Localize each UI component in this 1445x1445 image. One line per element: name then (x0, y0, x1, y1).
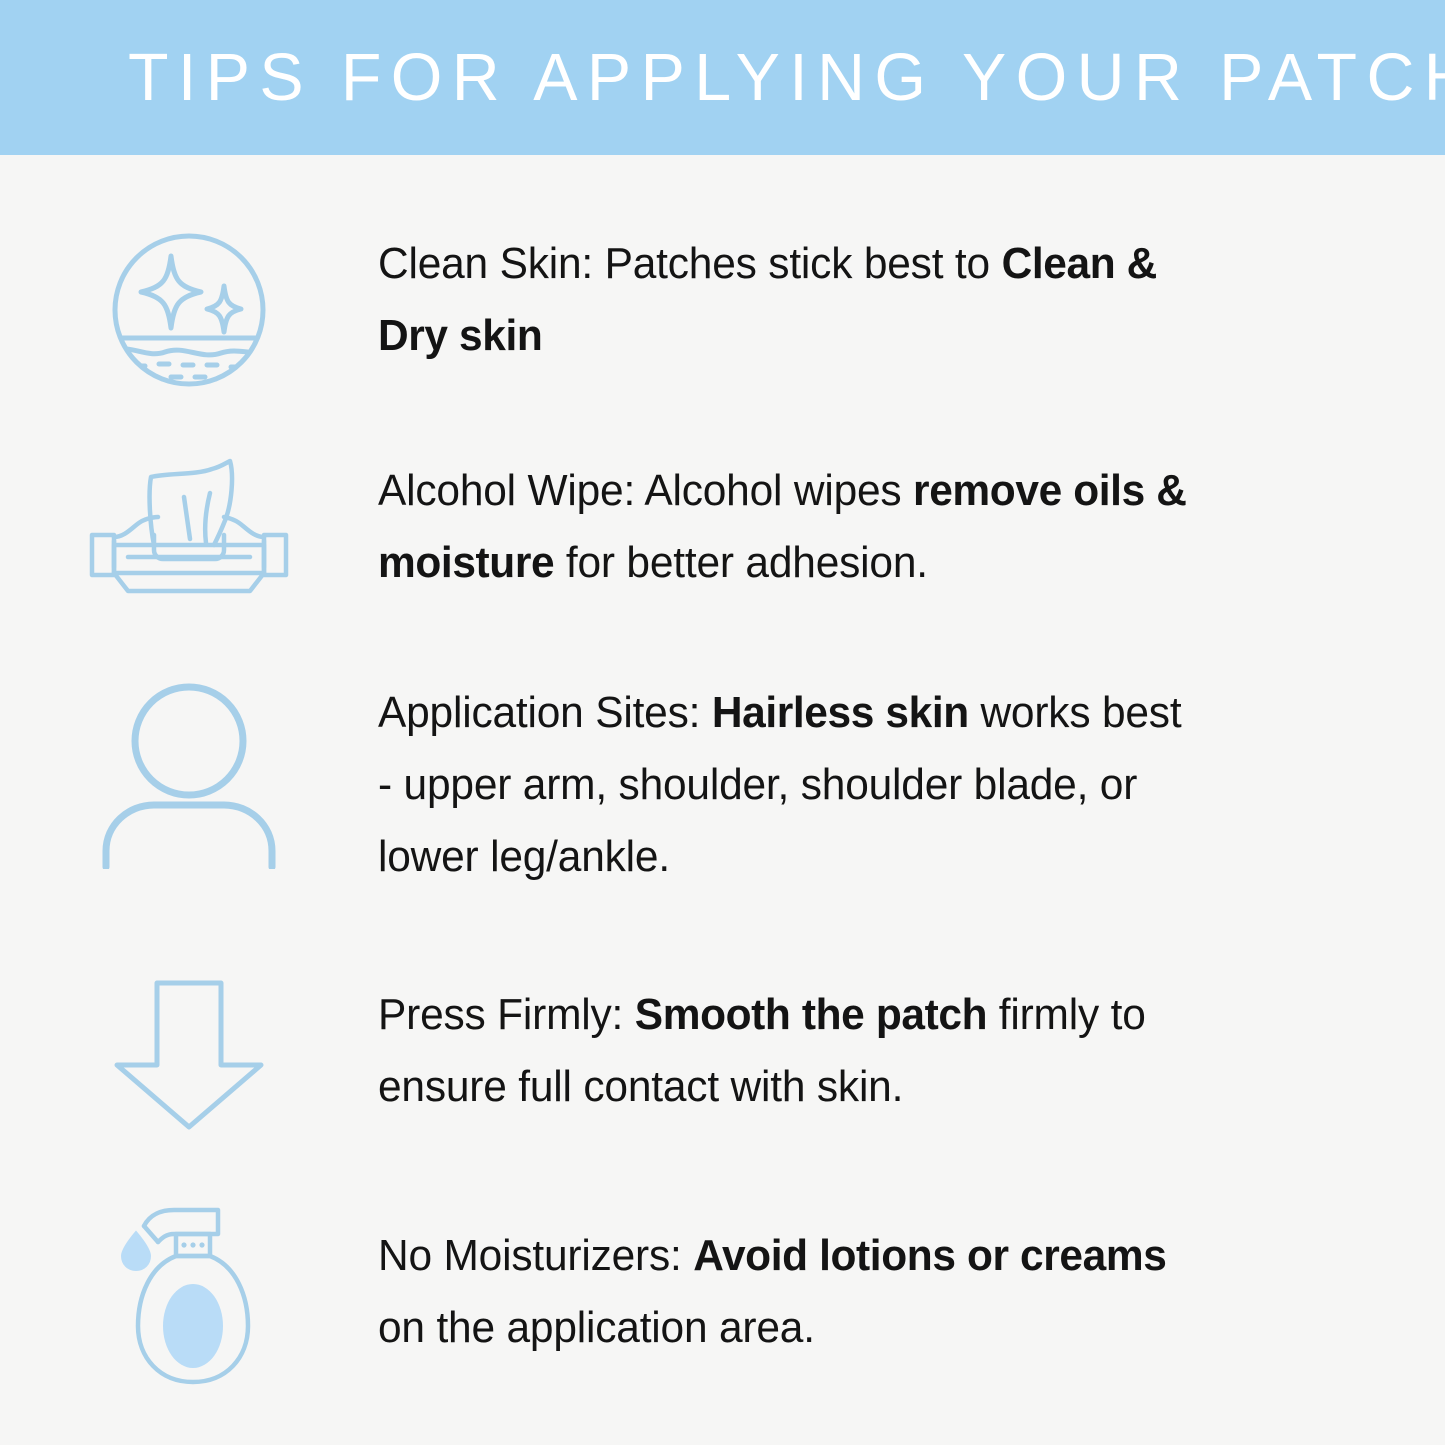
tip-text-cell: Clean Skin: Patches stick best to Clean … (378, 220, 1445, 372)
header-band: TIPS FOR APPLYING YOUR PATCH (0, 0, 1445, 155)
tip-line: moisture for better adhesion. (378, 538, 928, 587)
tip-row-no-moisturizers: No Moisturizers: Avoid lotions or creams… (0, 1202, 1445, 1394)
tip-row-press-firmly: Press Firmly: Smooth the patch firmly to… (0, 967, 1445, 1135)
tip-icon-cell (0, 220, 378, 394)
tip-line: ensure full contact with skin. (378, 1062, 903, 1111)
tip-line: Dry skin (378, 311, 542, 360)
tip-line: No Moisturizers: Avoid lotions or creams (378, 1231, 1166, 1280)
tip-line: Press Firmly: Smooth the patch firmly to (378, 990, 1146, 1039)
tip-row-clean-skin: Clean Skin: Patches stick best to Clean … (0, 220, 1445, 394)
clean-skin-icon (105, 226, 273, 394)
tip-text: Press Firmly: Smooth the patch firmly to… (378, 979, 1326, 1123)
tip-row-alcohol-wipe: Alcohol Wipe: Alcohol wipes remove oils … (0, 445, 1445, 603)
tips-list: Clean Skin: Patches stick best to Clean … (0, 155, 1445, 1445)
tip-line: Alcohol Wipe: Alcohol wipes remove oils … (378, 466, 1187, 515)
tip-icon-cell (0, 1202, 378, 1394)
tips-poster: TIPS FOR APPLYING YOUR PATCH (0, 0, 1445, 1445)
tip-line: Application Sites: Hairless skin works b… (378, 688, 1181, 737)
down-arrow-icon (109, 975, 269, 1135)
tip-text: Application Sites: Hairless skin works b… (378, 677, 1326, 893)
tip-text: Alcohol Wipe: Alcohol wipes remove oils … (378, 455, 1326, 599)
tip-line: lower leg/ankle. (378, 832, 670, 881)
tip-text-cell: No Moisturizers: Avoid lotions or creams… (378, 1202, 1445, 1364)
tip-text-cell: Press Firmly: Smooth the patch firmly to… (378, 967, 1445, 1123)
alcohol-wipes-packet-icon (84, 453, 294, 603)
tip-text: Clean Skin: Patches stick best to Clean … (378, 228, 1326, 372)
tip-text-cell: Alcohol Wipe: Alcohol wipes remove oils … (378, 445, 1445, 599)
tip-text: No Moisturizers: Avoid lotions or creams… (378, 1220, 1326, 1364)
page-title: TIPS FOR APPLYING YOUR PATCH (128, 44, 1445, 111)
tip-line: Clean Skin: Patches stick best to Clean … (378, 239, 1157, 288)
person-icon (98, 679, 280, 869)
tip-line: - upper arm, shoulder, shoulder blade, o… (378, 760, 1137, 809)
tip-icon-cell (0, 673, 378, 869)
tip-icon-cell (0, 967, 378, 1135)
tip-line: on the application area. (378, 1303, 815, 1352)
lotion-pump-bottle-icon (114, 1204, 264, 1394)
tip-text-cell: Application Sites: Hairless skin works b… (378, 673, 1445, 893)
tip-row-application-sites: Application Sites: Hairless skin works b… (0, 673, 1445, 893)
tip-icon-cell (0, 445, 378, 603)
